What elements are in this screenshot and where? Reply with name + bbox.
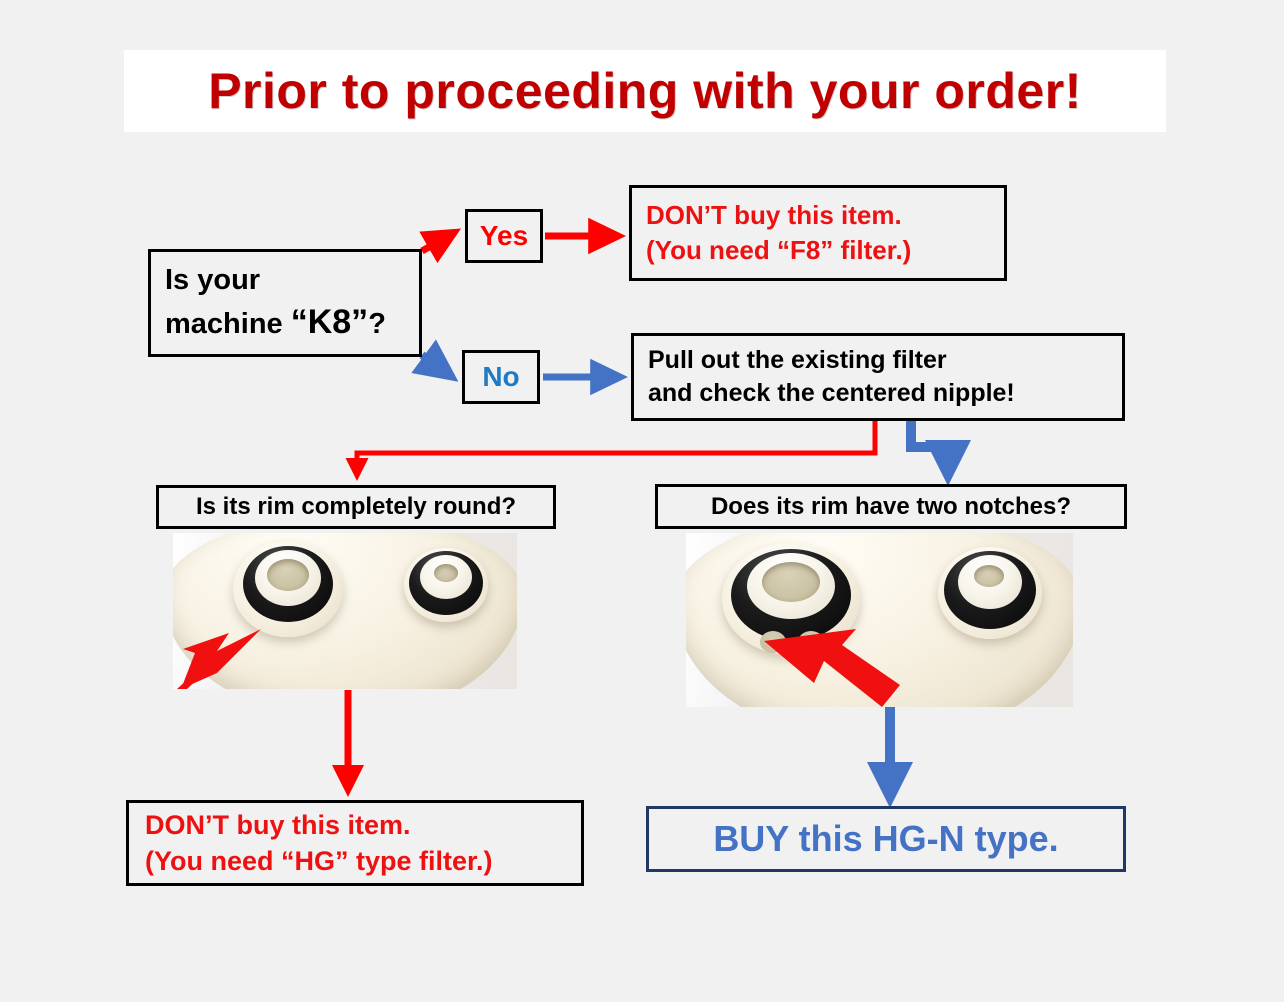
photo-right-arrow-overlay — [686, 533, 1073, 707]
dont-buy-hg-line-2: (You need “HG” type filter.) — [145, 843, 581, 879]
result-box-buy-hgn: BUY this HG-N type. — [646, 806, 1126, 872]
question-box-rim-round: Is its rim completely round? — [156, 485, 556, 529]
dont-buy-f8-line-2: (You need “F8” filter.) — [646, 233, 1004, 268]
decision-k8-label: “K8” — [291, 303, 368, 341]
yes-label: Yes — [480, 220, 528, 252]
question-box-rim-notches: Does its rim have two notches? — [655, 484, 1127, 529]
flowchart-canvas: Prior to proceeding with your order! — [0, 0, 1284, 1002]
decision-line-2-suffix: ? — [368, 308, 386, 340]
dont-buy-hg-line-1: DON’T buy this item. — [145, 807, 581, 843]
photo-right-red-arrow — [764, 629, 900, 707]
question-notches-label: Does its rim have two notches? — [711, 493, 1071, 521]
arrow-decision-to-no — [422, 355, 452, 377]
photo-filter-plate-notched-rim — [686, 533, 1073, 707]
dont-buy-f8-line-1: DON’T buy this item. — [646, 198, 1004, 233]
decision-line-2-prefix: machine — [165, 308, 291, 340]
branch-label-yes: Yes — [465, 209, 543, 263]
decision-line-1: Is your — [165, 261, 419, 299]
pull-out-line-1: Pull out the existing filter — [648, 344, 1122, 377]
pull-out-line-2: and check the centered nipple! — [648, 377, 1122, 410]
arrow-pullout-to-question-round — [357, 421, 875, 476]
arrow-pullout-to-question-notches — [911, 421, 948, 476]
result-box-dont-buy-f8: DON’T buy this item. (You need “F8” filt… — [629, 185, 1007, 281]
instruction-box-pull-out-filter: Pull out the existing filter and check t… — [631, 333, 1125, 421]
title-banner: Prior to proceeding with your order! — [124, 50, 1166, 132]
arrow-decision-to-yes — [422, 232, 455, 251]
no-label: No — [482, 361, 519, 393]
branch-label-no: No — [462, 350, 540, 404]
result-box-dont-buy-hg: DON’T buy this item. (You need “HG” type… — [126, 800, 584, 886]
photo-filter-plate-round-rim — [173, 533, 517, 689]
buy-hgn-label: BUY this HG-N type. — [713, 818, 1058, 860]
photo-left-arrow-overlay — [173, 533, 517, 689]
question-round-label: Is its rim completely round? — [196, 493, 516, 521]
decision-box-machine-k8: Is your machine “K8”? — [148, 249, 422, 357]
decision-line-2: machine “K8”? — [165, 300, 419, 345]
page-title: Prior to proceeding with your order! — [208, 62, 1082, 120]
